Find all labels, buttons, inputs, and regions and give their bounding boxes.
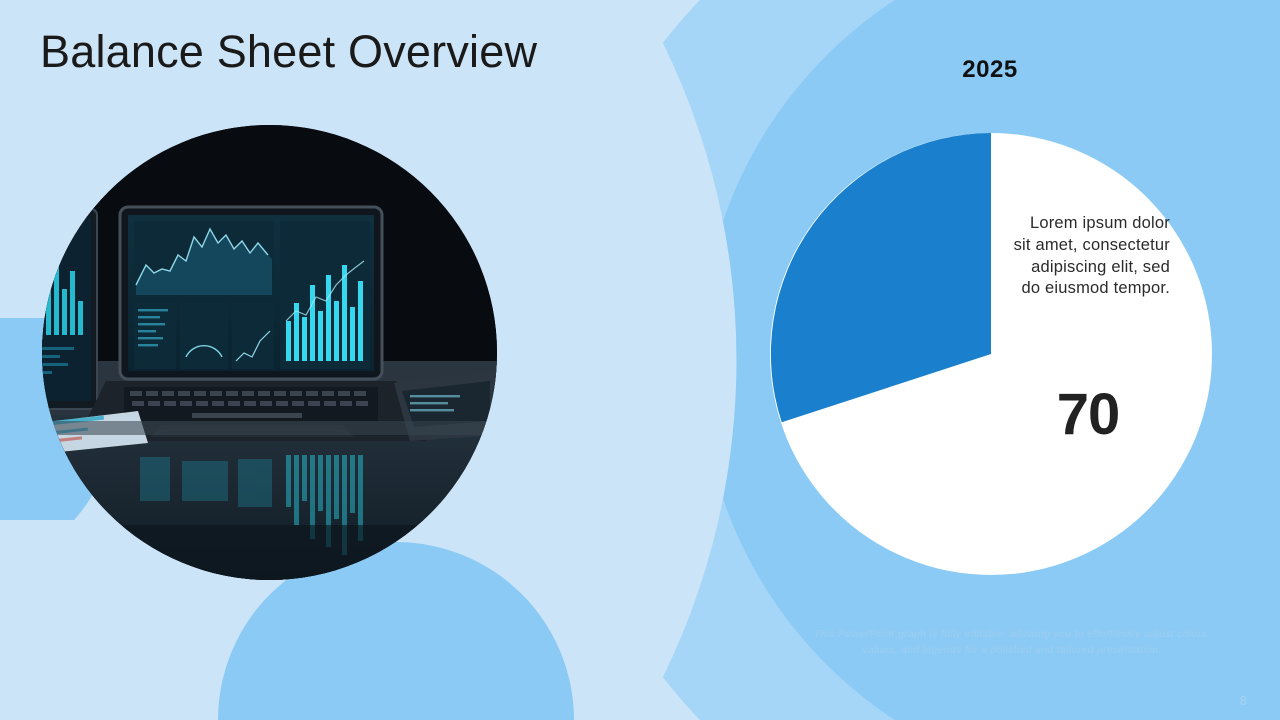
slide-canvas: Balance Sheet Overview <box>0 0 1280 720</box>
pie-chart-svg[interactable] <box>770 133 1212 575</box>
year-label: 2025 <box>940 56 1040 84</box>
page-number: 8 <box>1240 693 1247 708</box>
pie-description: Lorem ipsum dolor sit amet, consectetur … <box>1010 213 1170 300</box>
pie-center-value: 70 <box>1006 381 1170 448</box>
laptop-dashboard-photo <box>42 125 497 580</box>
photo-illustration <box>42 125 497 580</box>
page-title: Balance Sheet Overview <box>40 26 537 78</box>
editable-graph-note: This PowerPoint graph is fully editable,… <box>812 626 1212 659</box>
pie-chart[interactable]: Lorem ipsum dolor sit amet, consectetur … <box>770 133 1212 575</box>
